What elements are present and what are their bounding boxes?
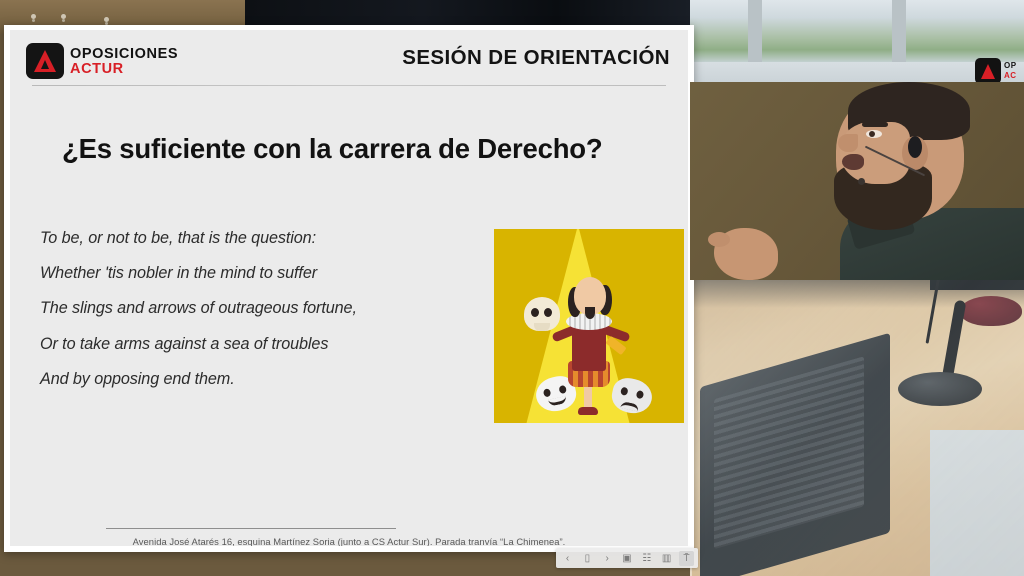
- skull-icon: [524, 297, 560, 331]
- reader-view-button[interactable]: ▥: [659, 551, 674, 566]
- single-slide-view-button[interactable]: ▣: [619, 551, 634, 566]
- page-view-button[interactable]: ▯: [580, 551, 595, 566]
- reader-view-icon: ▥: [662, 553, 671, 564]
- chevron-left-icon: ‹: [566, 553, 569, 564]
- page-icon: ▯: [585, 553, 591, 564]
- slide-title: ¿Es suficiente con la carrera de Derecho…: [62, 133, 658, 165]
- wall-fixture: [61, 14, 66, 19]
- speaker-camera-feed[interactable]: [690, 82, 1024, 280]
- poem-line: Whether 'tis nobler in the mind to suffe…: [40, 265, 470, 281]
- poem-line: Or to take arms against a sea of trouble…: [40, 336, 470, 352]
- header-divider: [32, 85, 666, 86]
- screen: OP AC OPOSICIONES ACTUR SESIÓ: [0, 0, 1024, 576]
- oposiciones-actur-logo: OPOSICIONES ACTUR: [26, 42, 186, 80]
- wall-fixture: [31, 14, 36, 19]
- wall-logo-line2: AC: [1004, 71, 1017, 80]
- grid-view-button[interactable]: ☷: [639, 551, 654, 566]
- wall-logo-line1: OP: [1004, 61, 1017, 70]
- poem-block: To be, or not to be, that is the questio…: [40, 230, 470, 406]
- footer-divider: [106, 528, 396, 529]
- wall-fixture: [104, 17, 109, 22]
- slide-footer: Avenida José Atarés 16, esquina Martínez…: [10, 535, 688, 546]
- grid-view-icon: ☷: [642, 553, 651, 564]
- logo-text-oposiciones: OPOSICIONES: [70, 46, 178, 62]
- presenter-view-icon: ⍑: [683, 553, 689, 564]
- single-slide-icon: ▣: [622, 553, 631, 564]
- presentation-slide: OPOSICIONES ACTUR SESIÓN DE ORIENTACIÓN …: [10, 30, 688, 546]
- presentation-slide-frame: OPOSICIONES ACTUR SESIÓN DE ORIENTACIÓN …: [4, 25, 694, 552]
- presenter-view-button[interactable]: ⍑: [679, 551, 694, 566]
- poem-line: The slings and arrows of outrageous fort…: [40, 300, 470, 316]
- chevron-right-icon: ›: [605, 553, 608, 564]
- poem-line: To be, or not to be, that is the questio…: [40, 230, 470, 246]
- logo-text-actur: ACTUR: [70, 61, 124, 77]
- acrylic-screen: [690, 280, 1024, 576]
- previous-page-button[interactable]: ‹: [560, 551, 575, 566]
- shakespeare-cartoon-illustration: [494, 229, 684, 423]
- next-page-button[interactable]: ›: [600, 551, 615, 566]
- slide-header-title: SESIÓN DE ORIENTACIÓN: [402, 46, 670, 70]
- footer-address: Avenida José Atarés 16, esquina Martínez…: [10, 535, 688, 546]
- headset-earpiece-icon: [908, 136, 922, 158]
- logo-triangle-inner-icon: [41, 60, 49, 69]
- poem-line: And by opposing end them.: [40, 371, 470, 387]
- slide-header: OPOSICIONES ACTUR SESIÓN DE ORIENTACIÓN: [10, 30, 688, 90]
- presentation-toolbar[interactable]: ‹ ▯ › ▣ ☷ ▥ ⍑: [556, 548, 698, 568]
